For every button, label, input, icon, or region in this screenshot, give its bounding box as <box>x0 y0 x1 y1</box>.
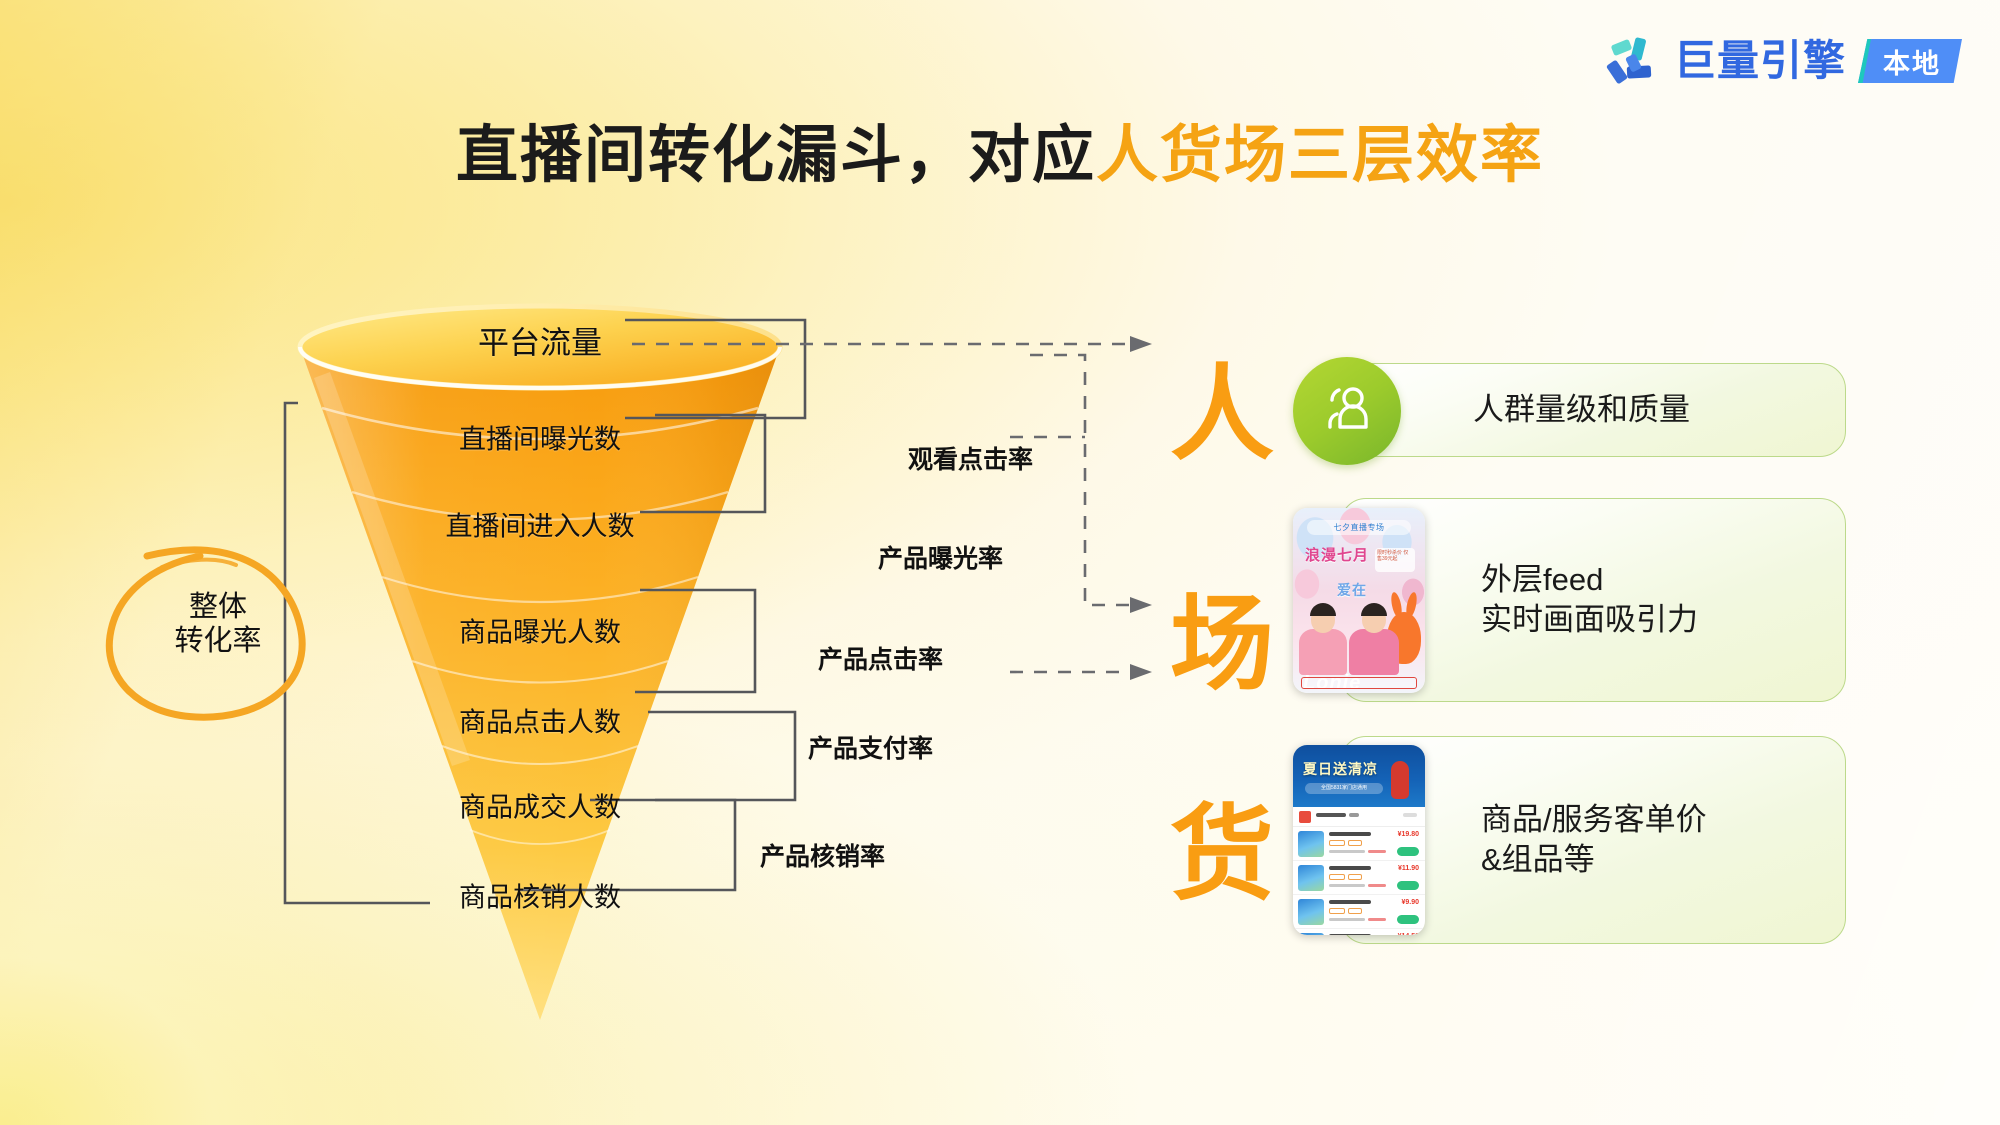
product-price: ¥19.80 <box>1398 831 1419 838</box>
shop-meta-placeholder <box>1349 813 1359 817</box>
rate-label-product-redeem: 产品核销率 <box>760 837 885 873</box>
product-tag-2 <box>1348 874 1362 880</box>
product-desc <box>1329 884 1365 887</box>
product-price: ¥14.50 <box>1398 933 1419 935</box>
product-row[interactable]: ¥9.90 <box>1293 895 1425 929</box>
shop-logo-icon <box>1299 811 1311 823</box>
product-hero-sub: 全国5831家门店通用 <box>1305 783 1383 794</box>
product-desc-hot <box>1368 850 1386 853</box>
product-name <box>1329 900 1371 904</box>
host-1-body <box>1299 629 1347 675</box>
funnel-cap-label: 平台流量 <box>478 318 602 363</box>
pillar-char-ren: 人 <box>1170 363 1274 467</box>
product-price: ¥11.90 <box>1398 865 1419 872</box>
product-buy-button[interactable] <box>1397 915 1419 924</box>
product-image <box>1298 865 1324 891</box>
rate-label-product-expose: 产品曝光率 <box>878 539 1003 575</box>
product-tag-1 <box>1329 874 1345 880</box>
overall-conversion-line1: 整体 <box>128 590 308 624</box>
card-feed-text: 外层feed 实时画面吸引力 <box>1481 560 1698 639</box>
product-hero-banner: 夏日送清凉 全国5831家门店通用 <box>1293 745 1425 807</box>
shop-name-placeholder <box>1316 813 1346 817</box>
livestream-banner-text: 七夕直播专场 <box>1307 520 1411 535</box>
livestream-host-1 <box>1299 603 1347 675</box>
funnel-tier-label-3: 商品曝光人数 <box>459 611 621 650</box>
dashed-arrowheads <box>1130 336 1152 680</box>
card-people[interactable]: 人群量级和质量 <box>1340 363 1846 457</box>
product-name <box>1329 866 1371 870</box>
product-price: ¥9.90 <box>1401 899 1419 906</box>
diagram-stage: 平台流量 直播间曝光数 直播间进入人数 商品曝光人数 商品点击人数 商品成交人数… <box>0 0 2000 1125</box>
funnel-tier-label-5: 商品成交人数 <box>459 786 621 825</box>
overall-conversion-line2: 转化率 <box>128 624 308 658</box>
overall-conversion-label: 整体 转化率 <box>128 590 308 658</box>
livestream-bottom-strip <box>1301 677 1417 689</box>
product-image <box>1298 831 1324 857</box>
funnel-tier-label-2: 直播间进入人数 <box>446 505 635 544</box>
card-people-text: 人群量级和质量 <box>1473 390 1690 430</box>
pillar-char-huo: 货 <box>1170 803 1274 907</box>
product-desc-hot <box>1368 918 1386 921</box>
rate-label-watch-click: 观看点击率 <box>908 440 1033 476</box>
product-buy-button[interactable] <box>1397 847 1419 856</box>
product-tag-2 <box>1348 840 1362 846</box>
product-name <box>1329 832 1371 836</box>
product-row[interactable]: ¥14.50 <box>1293 929 1425 935</box>
product-image <box>1298 933 1324 935</box>
product-shop-bar <box>1293 807 1425 827</box>
product-row[interactable]: ¥19.80 <box>1293 827 1425 861</box>
card-goods-text: 商品/服务客单价 &组品等 <box>1481 800 1707 879</box>
pillar-char-chang: 场 <box>1170 593 1274 697</box>
funnel-tier-label-6: 商品核销人数 <box>459 876 621 915</box>
shop-action-placeholder <box>1403 813 1417 817</box>
product-hero-title: 夏日送清凉 <box>1303 759 1378 779</box>
product-desc <box>1329 918 1365 921</box>
product-tag-2 <box>1348 908 1362 914</box>
host-2-body <box>1349 629 1399 675</box>
funnel-tier-label-4: 商品点击人数 <box>459 701 621 740</box>
product-image <box>1298 899 1324 925</box>
product-tag-1 <box>1329 840 1345 846</box>
product-hero-figure <box>1391 761 1409 799</box>
funnel-tier-label-1: 直播间曝光数 <box>459 418 621 457</box>
product-name <box>1329 934 1371 935</box>
people-group-icon <box>1293 357 1401 465</box>
product-desc <box>1329 850 1365 853</box>
host-2-hair <box>1361 603 1387 616</box>
product-tag-1 <box>1329 908 1345 914</box>
product-row[interactable]: ¥11.90 <box>1293 861 1425 895</box>
livestream-headline-2: 爱在 <box>1337 580 1367 600</box>
product-buy-button[interactable] <box>1397 881 1419 890</box>
livestream-host-2 <box>1349 603 1399 675</box>
product-desc-hot <box>1368 884 1386 887</box>
livestream-headline-1: 浪漫七月 <box>1305 544 1369 565</box>
rate-label-product-click: 产品点击率 <box>818 640 943 676</box>
rate-label-product-pay: 产品支付率 <box>808 729 933 765</box>
livestream-thumbnail[interactable]: 七夕直播专场 浪漫七月 爱在 限时秒杀价 仅售39元起 Lonie <box>1293 508 1425 693</box>
livestream-promo-tag: 限时秒杀价 仅售39元起 <box>1375 548 1415 572</box>
product-list-thumbnail[interactable]: 夏日送清凉 全国5831家门店通用 ¥19.80 ¥ <box>1293 745 1425 935</box>
host-1-hair <box>1310 603 1336 616</box>
